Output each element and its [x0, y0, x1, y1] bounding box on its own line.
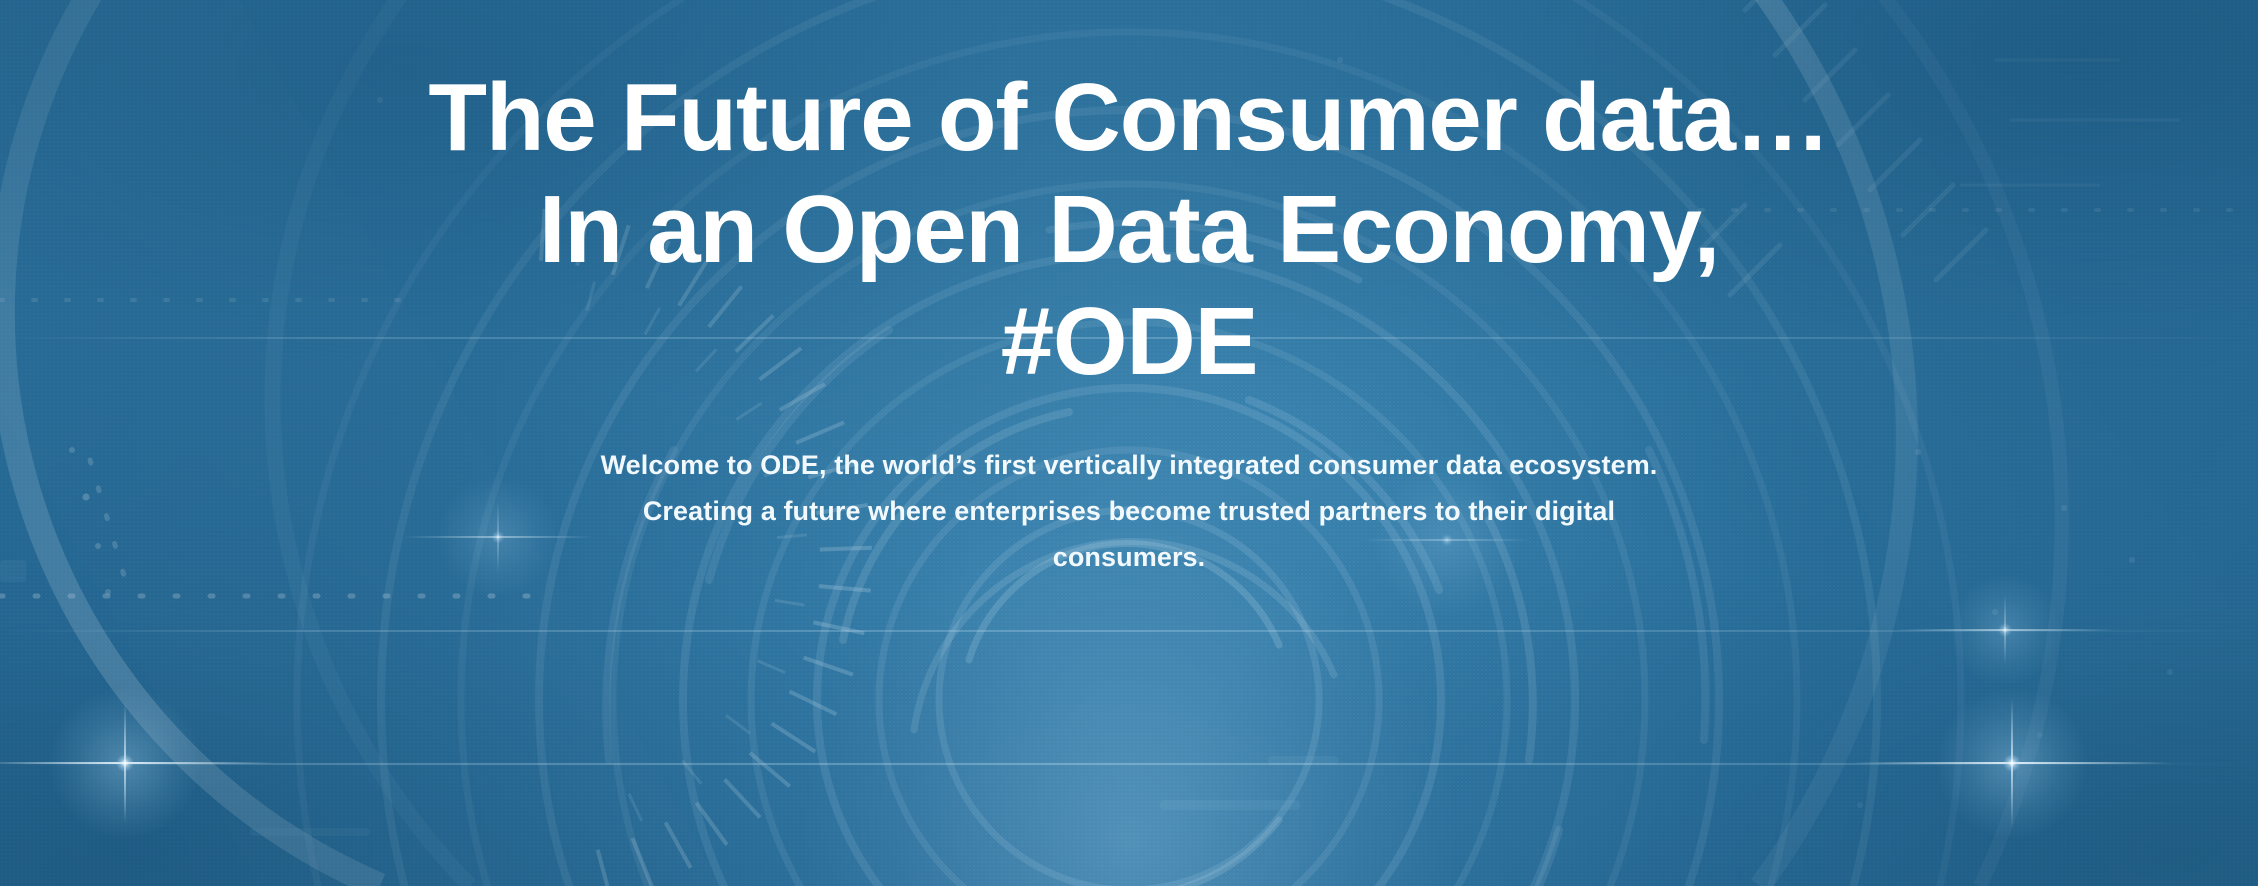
headline-line-1: The Future of Consumer data… — [34, 62, 2224, 174]
hero-subcopy: Welcome to ODE, the world’s first vertic… — [529, 442, 1729, 580]
page-title: The Future of Consumer data… In an Open … — [34, 0, 2224, 398]
subcopy-line-3: consumers. — [529, 534, 1729, 580]
hero-banner: The Future of Consumer data… In an Open … — [0, 0, 2258, 886]
subcopy-line-2: Creating a future where enterprises beco… — [529, 488, 1729, 534]
subcopy-line-1: Welcome to ODE, the world’s first vertic… — [529, 442, 1729, 488]
hero-content: The Future of Consumer data… In an Open … — [0, 0, 2258, 886]
headline-line-3: #ODE — [34, 286, 2224, 398]
headline-line-2: In an Open Data Economy, — [34, 174, 2224, 286]
